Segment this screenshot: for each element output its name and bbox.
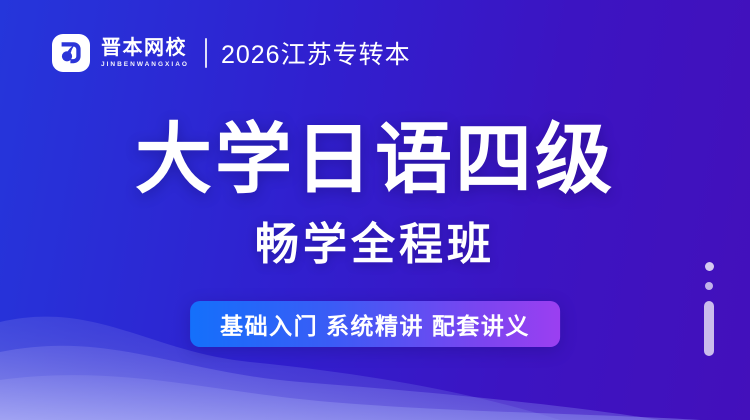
decoration-bar-icon — [704, 301, 714, 356]
brand-logo-icon — [52, 34, 90, 72]
header-divider — [205, 38, 207, 68]
brand-name-en: JINBENWANGXIAO — [101, 62, 189, 69]
feature-highlight-pill: 基础入门 系统精讲 配套讲义 — [190, 301, 560, 347]
decoration-dot-icon — [705, 282, 713, 290]
title-block: 大学日语四级 畅学全程班 — [0, 122, 750, 267]
right-decoration-marks — [704, 262, 714, 356]
banner-header: 晋本网校 JINBENWANGXIAO 2026江苏专转本 — [52, 30, 411, 76]
brand-name-cn: 晋本网校 — [101, 38, 189, 59]
header-tagline: 2026江苏专转本 — [221, 35, 411, 71]
decoration-dot-icon — [705, 262, 714, 271]
sub-title: 畅学全程班 — [0, 223, 750, 267]
feature-highlight-text: 基础入门 系统精讲 配套讲义 — [220, 307, 530, 341]
main-title: 大学日语四级 — [0, 122, 750, 199]
course-promo-banner: 晋本网校 JINBENWANGXIAO 2026江苏专转本 大学日语四级 畅学全… — [0, 0, 750, 420]
brand-wordmark: 晋本网校 JINBENWANGXIAO — [101, 38, 189, 69]
